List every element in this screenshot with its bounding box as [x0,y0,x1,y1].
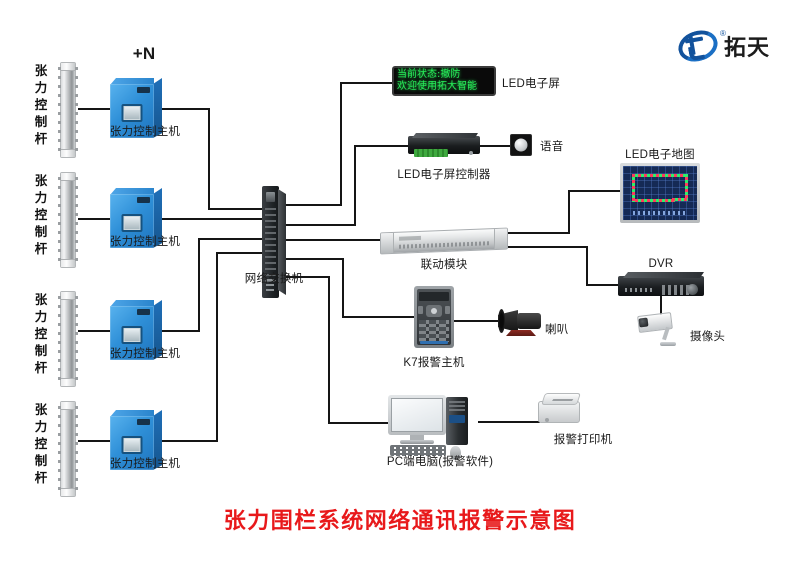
wire-pole2-host2 [78,218,110,220]
wire-sw-k7-a [286,258,344,260]
wire-host2-a [162,218,268,220]
tension-host-4-label: 张力控制主机 [110,455,180,471]
wire-linkage-dvr-a [508,246,588,248]
pc-device [388,395,480,457]
brand-name: 拓天 [724,30,770,62]
tuotian-ellipse-logo-icon: ® [678,31,718,61]
tension-pole-1 [60,62,76,158]
pole-label-3-text: 张力控制杆 [35,293,48,375]
led-controller-label: LED电子屏控制器 [397,166,490,182]
linkage-module-label: 联动模块 [421,256,468,272]
k7-alarm-host-device [414,286,454,348]
led-controller-device [408,133,480,157]
wire-host3-a [162,330,200,332]
wire-sw-k7-b [342,258,344,318]
tension-pole-4 [60,401,76,497]
wire-linkage-ledmap-a [508,232,570,234]
camera-label: 摄像头 [690,328,725,344]
wire-sw-ledscreen-c [340,82,392,84]
wire-linkage-dvr-c [586,284,618,286]
alarm-printer-device [538,393,580,423]
pole-label-1-text: 张力控制杆 [35,64,48,146]
horn-speaker-device [498,306,548,336]
brand-logo: ® 拓天 [678,30,770,62]
tension-pole-3 [60,291,76,387]
tension-host-2-label: 张力控制主机 [110,233,180,249]
plus-n-annotation: +N [133,44,156,64]
led-screen-label: LED电子屏 [502,75,560,91]
pole-label-4-text: 张力控制杆 [35,403,48,485]
diagram-title: 张力围栏系统网络通讯报警示意图 [224,503,577,535]
led-map-label: LED电子地图 [625,146,695,162]
tension-pole-2 [60,172,76,268]
pole-label-2: 张力控制杆 [34,173,48,258]
wire-host1-a [162,108,210,110]
wire-sw-pc-a [286,276,330,278]
wire-pole3-host3 [78,330,110,332]
wire-linkage-ledmap-b [568,190,570,234]
alarm-printer-label: 报警打印机 [554,431,613,447]
led-map-device [620,163,700,223]
pole-label-4: 张力控制杆 [34,402,48,487]
voice-label: 语音 [540,138,563,154]
led-screen-line2: 欢迎使用拓大智能 [397,81,491,93]
wire-host4-b [216,252,218,442]
tension-host-3-label: 张力控制主机 [110,345,180,361]
camera-device [636,312,686,346]
wire-sw-ledscreen-a [286,204,342,206]
wire-host3-c [198,238,268,240]
wire-pole4-host4 [78,440,110,442]
wire-host1-c [208,208,268,210]
dvr-label: DVR [649,258,674,270]
wire-sw-ledctl-c [354,145,408,147]
wire-host4-a [162,440,218,442]
pole-label-1: 张力控制杆 [34,63,48,148]
wire-linkage-ledmap-c [568,190,620,192]
wire-pole1-host1 [78,108,110,110]
k7-alarm-host-label: K7报警主机 [403,354,464,370]
wire-linkage-dvr-b [586,246,588,286]
wire-host3-b [198,238,200,332]
horn-label: 喇叭 [545,321,568,337]
voice-module-device [510,134,532,156]
diagram-canvas: ® 拓天 +N 张力控制杆 张力控制主机 张力控制杆 张力控制主机 张力控制杆 … [0,0,800,579]
tension-host-1-label: 张力控制主机 [110,123,180,139]
wire-sw-pc-b [328,276,330,424]
wire-sw-ledctl-b [354,145,356,226]
wire-sw-pc-c [328,422,388,424]
wire-ledctl-voice [480,145,510,147]
network-switch-label: 网络交换机 [245,270,304,286]
dvr-device [618,272,704,298]
wire-sw-linkage [286,239,380,241]
wire-k7-horn [454,320,500,322]
led-screen-device: 当前状态:撤防 欢迎使用拓大智能 [392,66,496,96]
led-screen-line1: 当前状态:撤防 [397,69,491,81]
pole-label-3: 张力控制杆 [34,292,48,377]
pole-label-2-text: 张力控制杆 [35,174,48,256]
wire-pc-printer [478,421,540,423]
wire-sw-ledctl-a [286,224,356,226]
linkage-module-device [380,228,508,255]
pc-label: PC端电脑(报警软件) [387,453,493,469]
registered-mark: ® [720,29,726,38]
wire-host1-b [208,108,210,210]
wire-sw-k7-c [342,316,414,318]
wire-sw-ledscreen-b [340,82,342,206]
wire-host4-c [216,252,268,254]
